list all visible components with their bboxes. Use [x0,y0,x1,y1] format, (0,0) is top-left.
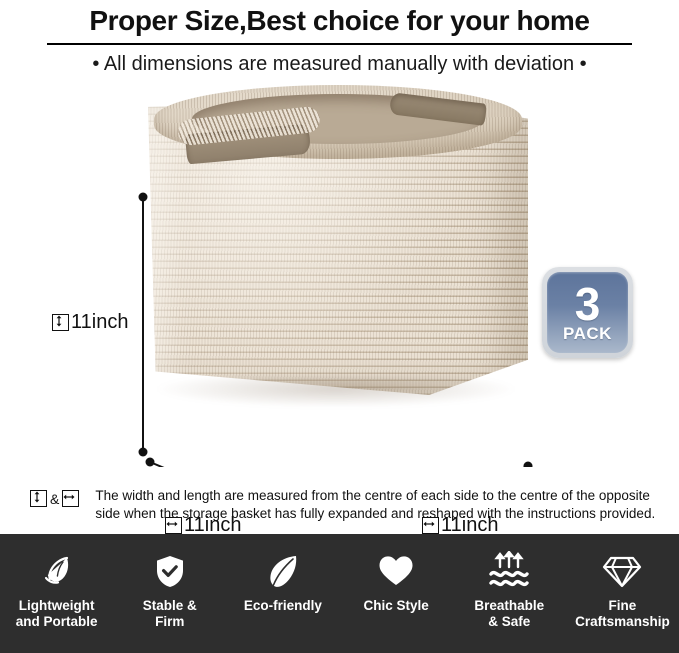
feature-item: Chic Style [340,550,453,614]
disclaimer-separator: & [50,491,59,507]
leaf-icon [263,550,303,592]
dimension-height: 11inch [52,311,128,334]
diamond-icon [602,550,642,592]
feature-label: Stable & Firm [143,598,197,630]
shield-check-icon [150,550,190,592]
dimension-diagram: 11inch 11inch 11inch 3 PACK [0,77,679,467]
feature-label: Fine Craftsmanship [575,598,670,630]
feather-icon [37,550,77,592]
feature-label: Eco-friendly [244,598,322,614]
feature-item: Lightweight and Portable [0,550,113,630]
product-image-basket [148,85,528,415]
page-subtitle: • All dimensions are measured manually w… [0,51,679,77]
page-title: Proper Size,Best choice for your home [0,2,679,38]
pack-count-badge: 3 PACK [542,267,633,358]
feature-label: Lightweight and Portable [16,598,98,630]
heart-icon [376,550,416,592]
pack-count-word: PACK [563,325,612,343]
measurement-disclaimer: & The width and length are measured from… [0,487,679,523]
disclaimer-icons: & [30,490,79,507]
pack-count-number: 3 [575,284,601,324]
disclaimer-text: The width and length are measured from t… [95,487,655,523]
feature-strip: Lightweight and Portable Stable & Firm E… [0,534,679,653]
feature-item: Fine Craftsmanship [566,550,679,630]
header: Proper Size,Best choice for your home • … [0,0,679,77]
pack-badge-inner: 3 PACK [547,272,628,353]
feature-item: Breathable & Safe [453,550,566,630]
basket-base-shadow [158,377,514,407]
vertical-double-arrow-icon [52,314,69,331]
feature-item: Stable & Firm [113,550,226,630]
horizontal-double-arrow-icon [62,490,79,507]
feature-label: Chic Style [363,598,428,614]
feature-item: Eco-friendly [226,550,339,614]
disclaimer-line-2: side when the storage basket has fully e… [95,505,655,523]
dimension-height-label: 11inch [71,311,128,334]
disclaimer-line-1: The width and length are measured from t… [95,487,655,505]
feature-label: Breathable & Safe [474,598,544,630]
header-divider [47,43,632,45]
vertical-double-arrow-icon [30,490,47,507]
breathable-waves-icon [487,550,531,592]
